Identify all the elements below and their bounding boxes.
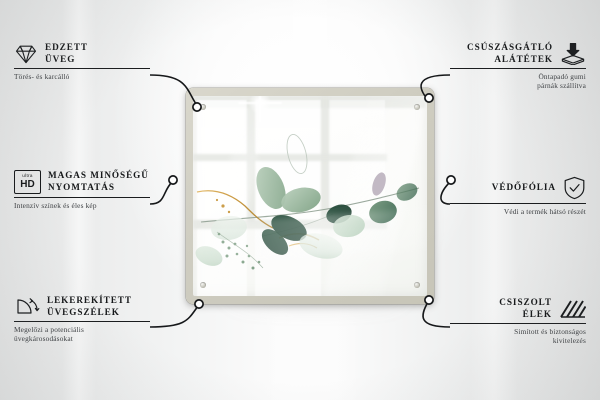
glass-board	[186, 88, 434, 304]
feature-subtitle-line: Védi a termék hátsó részét	[450, 207, 586, 216]
feature-anti-slip-pads: CSÚSZÁSGÁTLÓ ALÁTÉTEK Öntapadó gumi párn…	[450, 42, 586, 91]
divider	[14, 197, 150, 198]
mounting-hole	[200, 282, 206, 288]
divider	[450, 68, 586, 69]
feature-title-line: NYOMTATÁS	[48, 182, 149, 194]
diamond-icon	[14, 43, 38, 65]
feature-polished-edges: CSISZOLT ÉLEK Simított és biztonságos ki…	[450, 297, 586, 346]
feature-title-line: ÜVEG	[45, 54, 88, 66]
feature-title-line: CSISZOLT	[499, 297, 552, 309]
feature-title-line: LEKEREKÍTETT	[47, 295, 132, 307]
feature-title-line: EDZETT	[45, 42, 88, 54]
divider	[14, 321, 150, 322]
feature-rounded-glass-edges: LEKEREKÍTETT ÜVEGSZÉLEK Megelőzi a poten…	[14, 295, 150, 344]
feature-subtitle-line: Megelőzi a potenciális	[14, 325, 150, 334]
feature-subtitle-line: párnák szállítva	[450, 81, 586, 90]
shield-check-icon	[563, 176, 586, 200]
feature-high-quality-print: ultra HD MAGAS MINŐSÉGŰ NYOMTATÁS Intenz…	[14, 170, 150, 210]
divider	[450, 323, 586, 324]
ultra-hd-badge-icon: ultra HD	[14, 170, 41, 194]
feature-title-line: MAGAS MINŐSÉGŰ	[48, 170, 149, 182]
feature-subtitle-line: Törés- és karcálló	[14, 72, 150, 81]
feature-subtitle-line: Simított és biztonságos	[450, 327, 586, 336]
divider	[450, 203, 586, 204]
feature-protective-film: VÉDŐFÓLIA Védi a termék hátsó részét	[450, 176, 586, 216]
feature-title-line: ÉLEK	[499, 309, 552, 321]
feature-subtitle-line: kivitelezés	[450, 336, 586, 345]
feature-title-line: ÜVEGSZÉLEK	[47, 307, 132, 319]
mounting-hole	[414, 282, 420, 288]
rounded-corner-icon	[14, 296, 40, 318]
mounting-hole	[200, 104, 206, 110]
feature-tempered-glass: EDZETT ÜVEG Törés- és karcálló	[14, 42, 150, 81]
feature-subtitle-line: üvegkárosodásokat	[14, 334, 150, 343]
hd-label: HD	[20, 180, 34, 190]
mounting-hole	[414, 104, 420, 110]
feature-subtitle-line: Öntapadó gumi	[450, 72, 586, 81]
feature-title-line: ALÁTÉTEK	[467, 54, 553, 66]
press-down-pad-icon	[560, 42, 586, 65]
divider	[14, 68, 150, 69]
infographic-canvas: EDZETT ÜVEG Törés- és karcálló ultra HD …	[0, 0, 600, 400]
glass-surface	[193, 96, 427, 296]
feature-title-line: CSÚSZÁSGÁTLÓ	[467, 42, 553, 54]
botanical-artwork	[193, 96, 427, 296]
product-image	[186, 88, 434, 304]
feature-title-line: VÉDŐFÓLIA	[492, 182, 556, 194]
feature-subtitle-line: Intenzív színek és éles kép	[14, 201, 150, 210]
connector-endpoint	[169, 176, 177, 184]
hatched-stripes-icon	[559, 298, 586, 319]
